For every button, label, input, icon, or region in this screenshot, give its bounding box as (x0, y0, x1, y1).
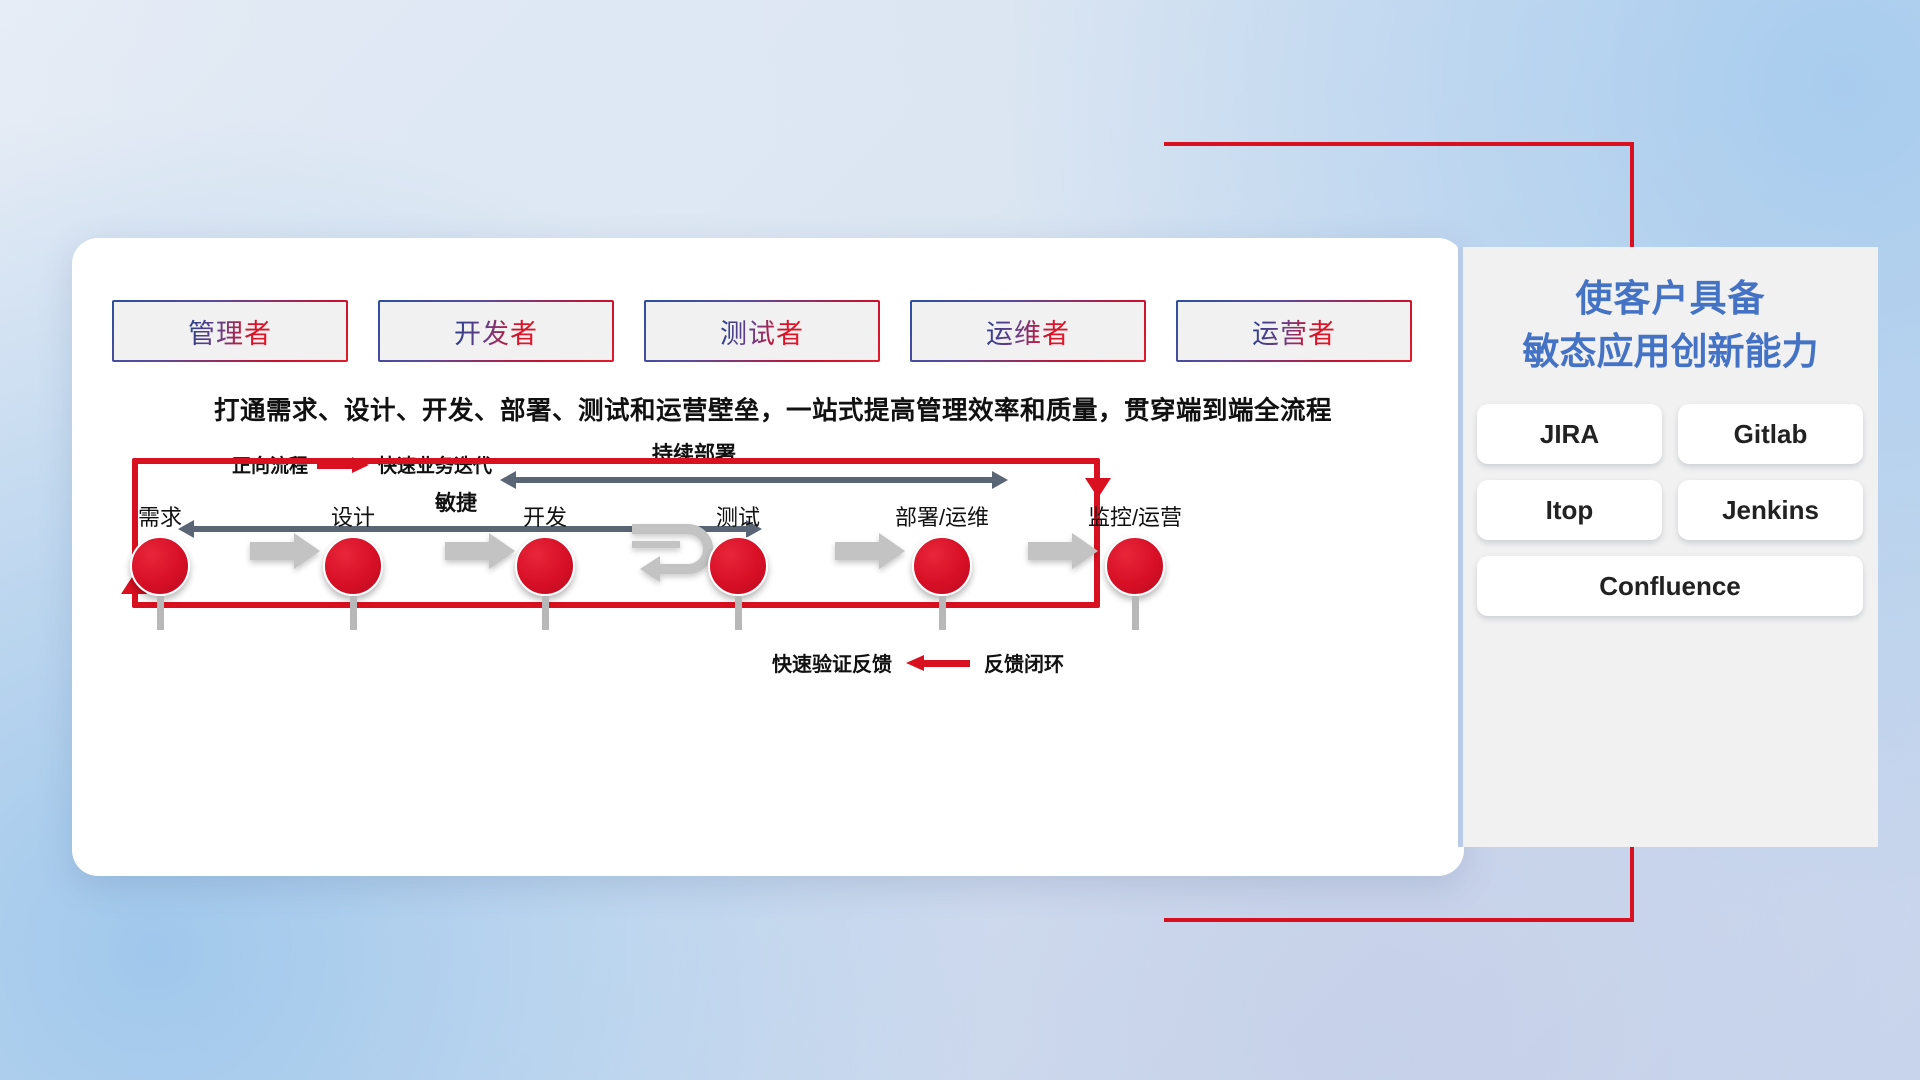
tool-grid: JIRA Gitlab Itop Jenkins Confluence (1477, 404, 1864, 616)
panel-title: 使客户具备 敏态应用创新能力 (1463, 273, 1878, 378)
stage-stem (939, 596, 946, 630)
tool-chip-itop[interactable]: Itop (1477, 480, 1662, 540)
stage-stem (542, 596, 549, 630)
role-label: 管理者 (188, 312, 272, 351)
stage-label: 需求 (100, 500, 220, 532)
stage-stem (350, 596, 357, 630)
role-box-ops[interactable]: 运维者 (910, 300, 1146, 362)
stage-dot-icon (323, 536, 383, 596)
stage-dot-icon (515, 536, 575, 596)
stage-label: 开发 (485, 500, 605, 532)
pipeline-stage-monitor-operations[interactable]: 监控/运营 (1075, 500, 1195, 630)
pipeline-stage-design[interactable]: 设计 (293, 500, 413, 630)
pipeline-stage-development[interactable]: 开发 (485, 500, 605, 630)
tool-chip-confluence[interactable]: Confluence (1477, 556, 1863, 616)
pipeline-stage-requirement[interactable]: 需求 (100, 500, 220, 630)
stage-label: 部署/运维 (882, 500, 1002, 532)
stage-label: 测试 (678, 500, 798, 532)
description-text: 打通需求、设计、开发、部署、测试和运营壁垒，一站式提高管理效率和质量，贯穿端到端… (108, 390, 1438, 427)
feedback-loop-label: 反馈闭环 (984, 648, 1064, 677)
stage-label: 设计 (293, 500, 413, 532)
role-label: 开发者 (454, 312, 538, 351)
stage-stem (735, 596, 742, 630)
stage-dot-icon (912, 536, 972, 596)
pipeline-stage-testing[interactable]: 测试 (678, 500, 798, 630)
stage-dot-icon (708, 536, 768, 596)
panel-title-line1: 使客户具备 (1463, 273, 1878, 326)
pipeline: 需求 设计 开发 (100, 500, 1230, 620)
role-box-row: 管理者 开发者 测试者 运维者 运营者 (112, 300, 1412, 362)
capability-panel: 使客户具备 敏态应用创新能力 JIRA Gitlab Itop Jenkins … (1458, 247, 1878, 847)
role-label: 测试者 (720, 312, 804, 351)
role-box-operations[interactable]: 运营者 (1176, 300, 1412, 362)
loop-arrow-down-icon (1085, 478, 1111, 498)
feedback-legend: 快速验证反馈 反馈闭环 (772, 648, 1064, 677)
tool-chip-gitlab[interactable]: Gitlab (1678, 404, 1863, 464)
role-box-tester[interactable]: 测试者 (644, 300, 880, 362)
role-label: 运营者 (1252, 312, 1336, 351)
role-box-manager[interactable]: 管理者 (112, 300, 348, 362)
stage-stem (157, 596, 164, 630)
left-arrow-icon (906, 655, 970, 671)
pipeline-stage-deploy-ops[interactable]: 部署/运维 (882, 500, 1002, 630)
panel-title-line2: 敏态应用创新能力 (1463, 326, 1878, 379)
stage-dot-icon (130, 536, 190, 596)
tool-chip-jenkins[interactable]: Jenkins (1678, 480, 1863, 540)
role-label: 运维者 (986, 312, 1070, 351)
role-box-developer[interactable]: 开发者 (378, 300, 614, 362)
tool-chip-jira[interactable]: JIRA (1477, 404, 1662, 464)
devops-flow-card: 管理者 开发者 测试者 运维者 运营者 打通需求、设计、开发、部署、测试和运营壁… (72, 238, 1464, 876)
fast-validation-label: 快速验证反馈 (772, 648, 892, 677)
stage-dot-icon (1105, 536, 1165, 596)
stage-stem (1132, 596, 1139, 630)
slide-canvas: 管理者 开发者 测试者 运维者 运营者 打通需求、设计、开发、部署、测试和运营壁… (0, 0, 1920, 1080)
stage-label: 监控/运营 (1075, 500, 1195, 532)
